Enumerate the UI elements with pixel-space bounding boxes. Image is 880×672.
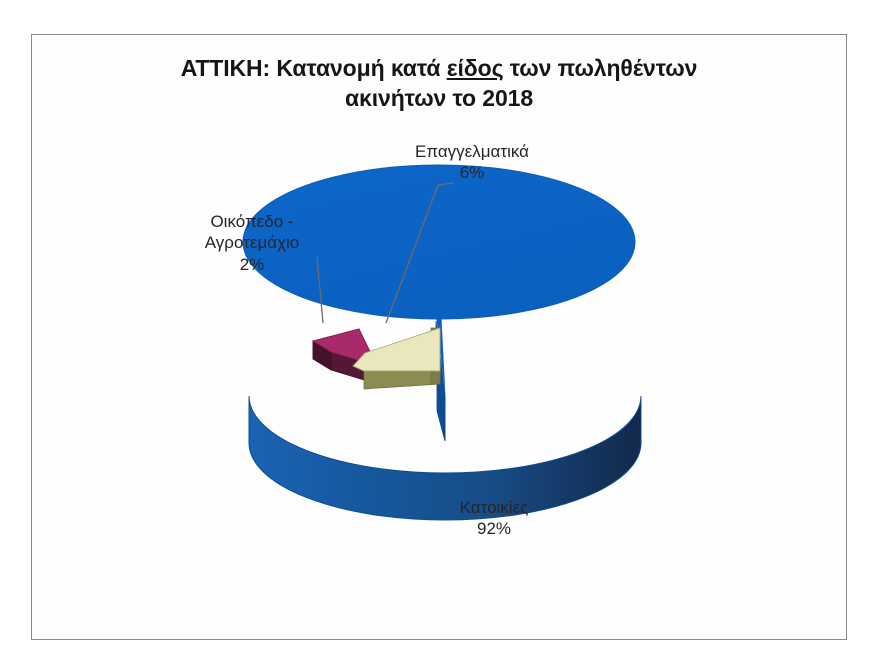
pie-slice-professional <box>353 328 440 389</box>
screenshot-page: ΑΤΤΙΚΗ: Κατανομή κατά είδος των πωληθέντ… <box>0 0 880 672</box>
pie-plot-area: Επαγγελματικά 6% Οικόπεδο - Αγροτεμάχιο … <box>32 35 848 641</box>
pie-slice-houses <box>243 165 641 520</box>
chart-container: ΑΤΤΙΚΗ: Κατανομή κατά είδος των πωληθέντ… <box>31 34 847 640</box>
pie-chart-svg <box>32 35 848 641</box>
